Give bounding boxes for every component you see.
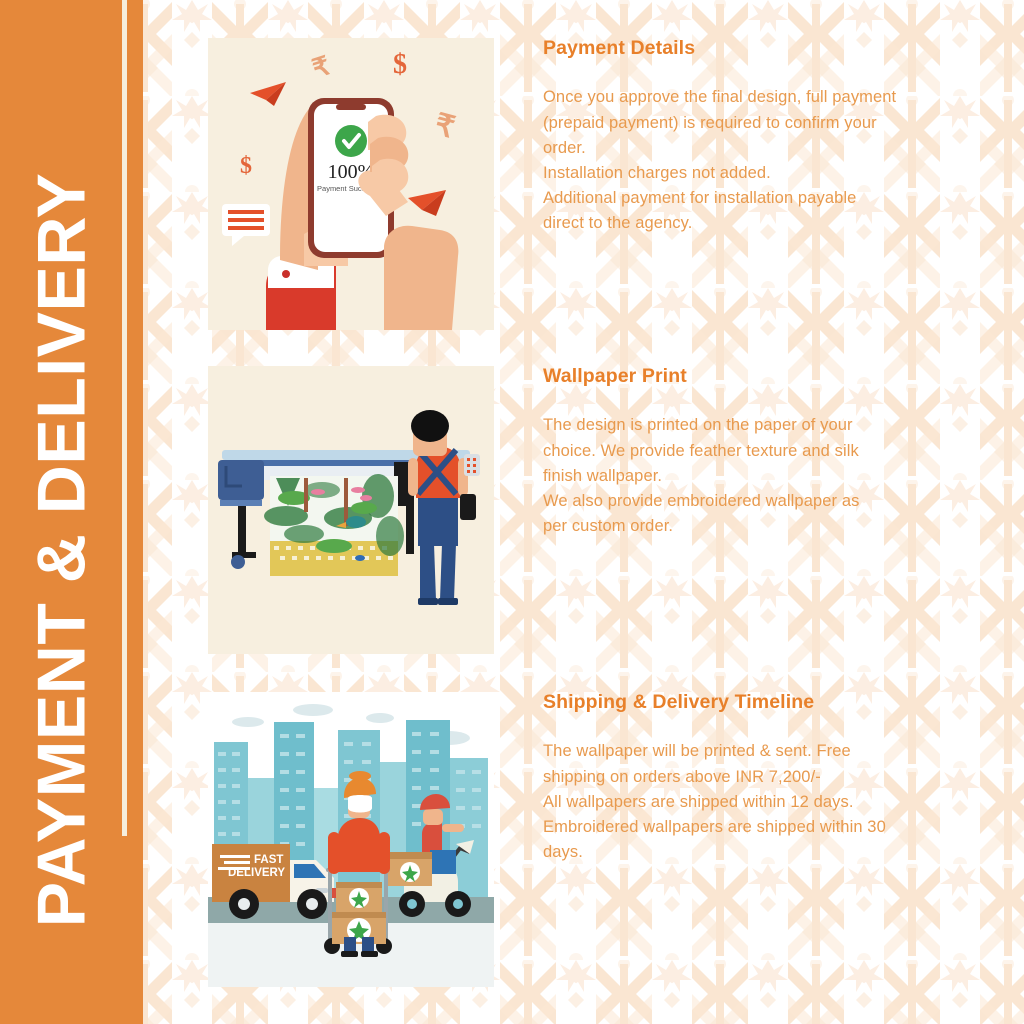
body-line: Embroidered wallpapers are shipped withi… (543, 815, 964, 840)
face-mask-icon (348, 795, 372, 813)
section-title-payment-details: Payment Details (543, 38, 964, 59)
body-line: The design is printed on the paper of yo… (543, 413, 964, 438)
section-body-payment-details: Once you approve the final design, full … (543, 85, 964, 235)
sidebar-title-wrap: PAYMENT & DELIVERY (0, 0, 122, 1024)
body-line: per custom order. (543, 514, 964, 539)
body-line: Installation charges not added. (543, 161, 964, 186)
shipping-delivery-text: Shipping & Delivery Timeline The wallpap… (543, 692, 964, 865)
section-shipping-delivery: FAST DELIVERY (143, 692, 1024, 987)
body-line: shipping on orders above INR 7,200/- (543, 765, 964, 790)
printed-wallpaper-sheet (264, 474, 404, 576)
section-title-shipping-delivery: Shipping & Delivery Timeline (543, 692, 964, 713)
section-title-wallpaper-print: Wallpaper Print (543, 366, 964, 387)
body-line: Once you approve the final design, full … (543, 85, 964, 110)
payment-details-text: Payment Details Once you approve the fin… (543, 38, 964, 236)
body-line: The wallpaper will be printed & sent. Fr… (543, 739, 964, 764)
body-line: order. (543, 136, 964, 161)
wide-format-printer-illustration (208, 366, 494, 654)
sidebar-accent-rule (122, 0, 127, 836)
truck-label-line1: FAST (254, 854, 283, 866)
section-payment-details: ₹ $ ₹ $ (143, 38, 1024, 330)
sidebar-banner: PAYMENT & DELIVERY (0, 0, 143, 1024)
body-line: choice. We provide feather texture and s… (543, 439, 964, 464)
body-line: direct to the agency. (543, 211, 964, 236)
dollar-symbol-1: $ (393, 49, 407, 80)
content-area: ₹ $ ₹ $ (143, 0, 1024, 1024)
body-line: days. (543, 840, 964, 865)
fast-delivery-city-illustration: FAST DELIVERY (208, 692, 494, 987)
body-line: finish wallpaper. (543, 464, 964, 489)
body-line: We also provide embroidered wallpaper as (543, 489, 964, 514)
body-line: All wallpapers are shipped within 12 day… (543, 790, 964, 815)
page-root: PAYMENT & DELIVERY ₹ $ ₹ $ (0, 0, 1024, 1024)
section-body-shipping-delivery: The wallpaper will be printed & sent. Fr… (543, 739, 964, 864)
success-check-icon (335, 125, 367, 157)
dollar-symbol-2: $ (240, 153, 252, 179)
payment-success-phone-illustration: ₹ $ ₹ $ (208, 38, 494, 330)
body-line: Additional payment for installation paya… (543, 186, 964, 211)
section-wallpaper-print: Wallpaper Print The design is printed on… (143, 366, 1024, 654)
truck-label-line2: DELIVERY (228, 867, 285, 879)
body-line: (prepaid payment) is required to confirm… (543, 111, 964, 136)
page-title: PAYMENT & DELIVERY (27, 173, 95, 928)
section-body-wallpaper-print: The design is printed on the paper of yo… (543, 413, 964, 538)
wallpaper-print-text: Wallpaper Print The design is printed on… (543, 366, 964, 539)
